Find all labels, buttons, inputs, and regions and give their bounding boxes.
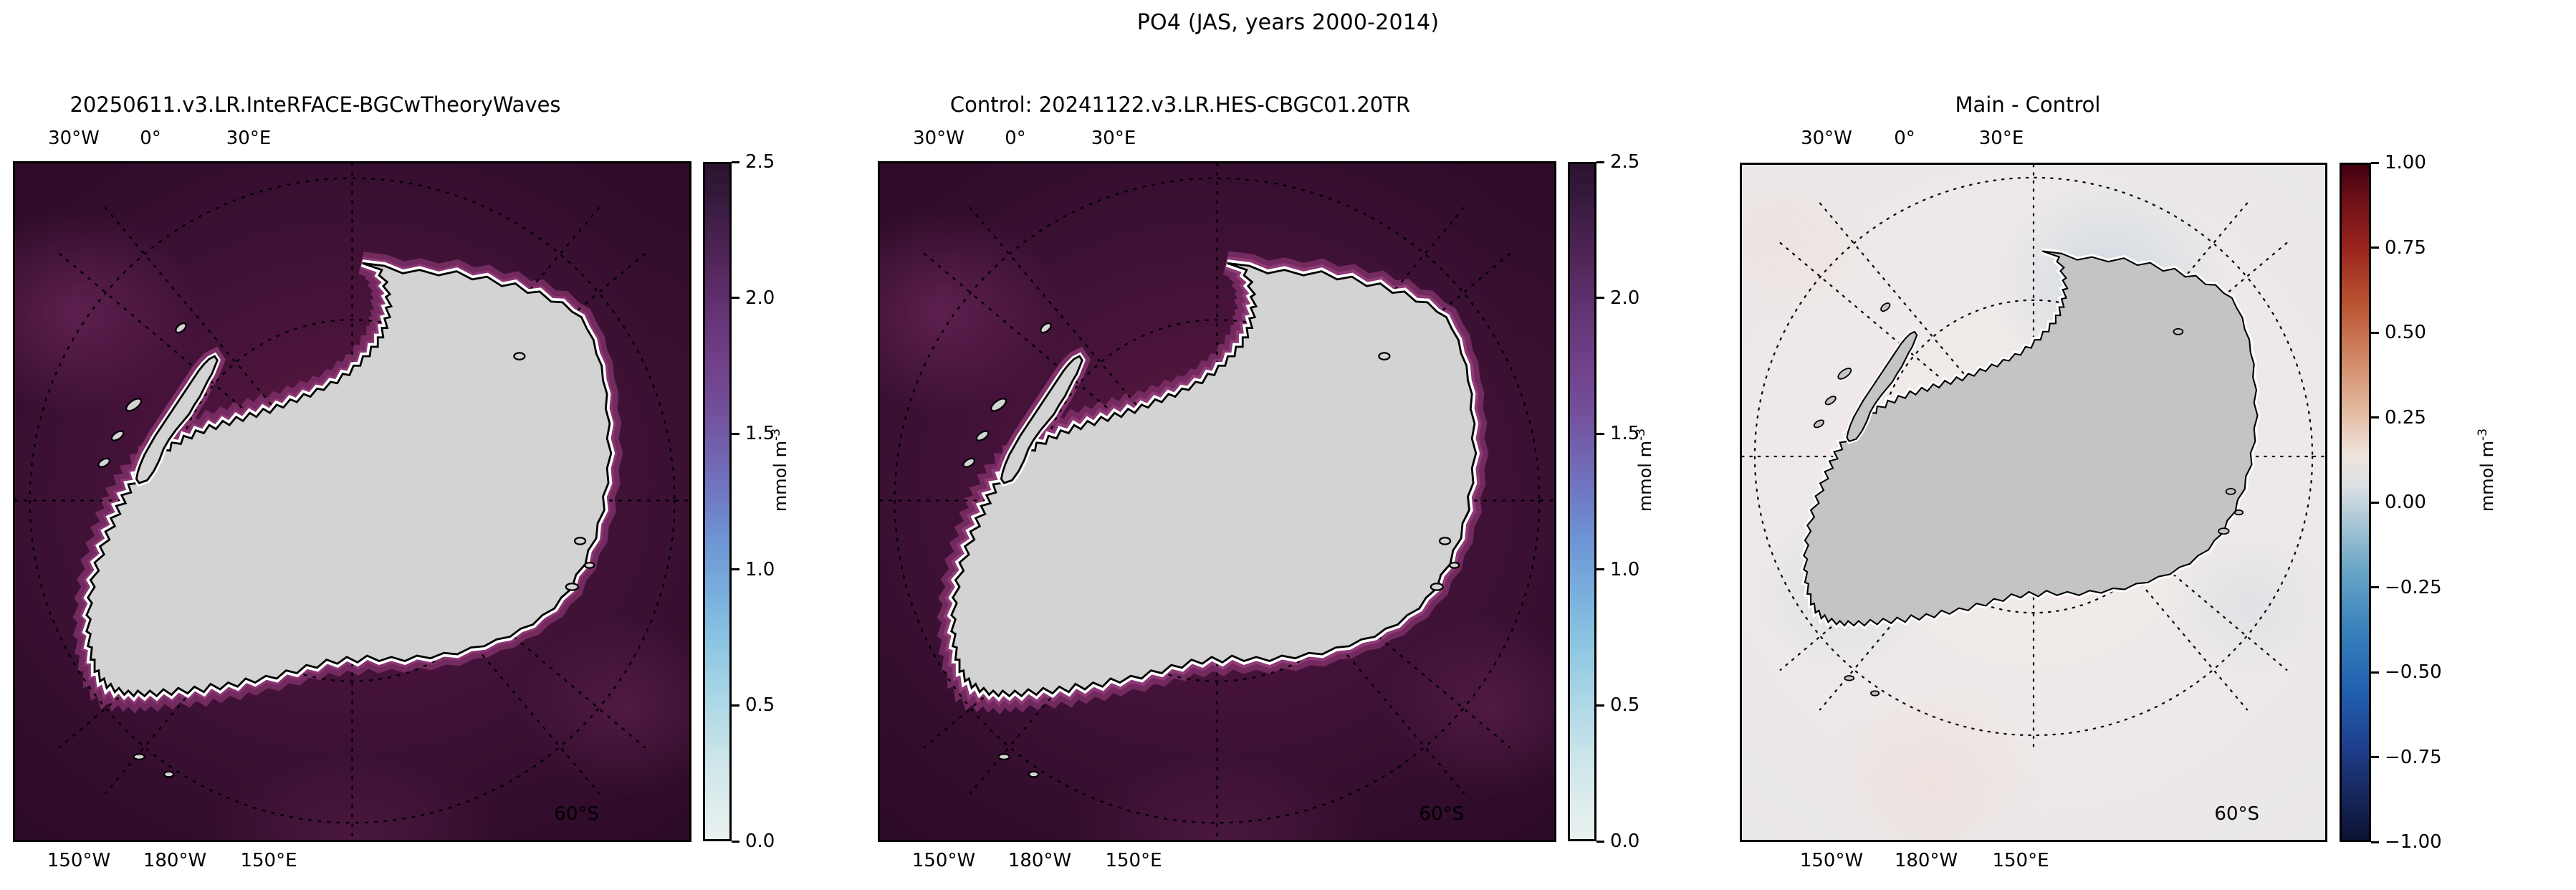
tick-label: 0.5	[745, 696, 775, 714]
ocean-field-main	[15, 163, 689, 840]
tick-mark	[732, 297, 739, 299]
tick-label: 0.0	[745, 832, 775, 851]
tick-label: 0.00	[2385, 493, 2426, 512]
tick-mark	[1596, 297, 1604, 299]
tick-label: 2.5	[1610, 153, 1639, 171]
lon-label-bottom-150w: 150°W	[912, 850, 975, 871]
colorbar-tick: −1.00	[2371, 833, 2442, 851]
colorbar-tick: 2.5	[732, 153, 775, 171]
tick-label: −0.25	[2385, 578, 2442, 597]
lon-label-bottom-150e: 150°E	[240, 850, 297, 871]
panel-difference: Main - Control 30°W 0° 30°E	[1727, 0, 2576, 890]
tick-mark	[2371, 332, 2379, 334]
colorbar-tick: 0.25	[2371, 408, 2426, 427]
colorbar-tick: 0.50	[2371, 323, 2426, 342]
colorbar-tick: 0.0	[732, 832, 775, 851]
tick-label: −0.50	[2385, 663, 2442, 681]
colorbar-tick: 0.5	[1596, 696, 1639, 714]
colorbar-unit-text: mmol m	[2477, 441, 2497, 512]
colorbar-control[interactable]	[1568, 162, 1596, 841]
panel-main-run: 20250611.v3.LR.InteRFACE-BGCwTheoryWaves…	[0, 0, 803, 890]
lat-label-60s-difference: 60°S	[2214, 804, 2259, 824]
panel-control-run: Control: 20241122.v3.LR.HES-CBGC01.20TR …	[865, 0, 1667, 890]
colorbar-axis-label-control: mmol m-3	[1632, 429, 1655, 512]
colorbar-main[interactable]	[703, 162, 732, 841]
difference-field	[1742, 165, 2325, 840]
lon-label-bottom-180w: 180°W	[143, 850, 206, 871]
lon-label-top-30e: 30°E	[1091, 128, 1136, 149]
colorbar-tick: 0.5	[732, 696, 775, 714]
lon-label-bottom-150e: 150°E	[1105, 850, 1162, 871]
lon-label-top-0: 0°	[1894, 128, 1915, 149]
panel-title-difference: Main - Control	[1727, 92, 2329, 118]
tick-label: 1.00	[2385, 153, 2426, 172]
lon-label-top-30e: 30°E	[226, 128, 272, 149]
colorbar-unit-exponent: -3	[1634, 429, 1648, 441]
lon-label-top-30e: 30°E	[1979, 128, 2024, 149]
lat-label-60s-main: 60°S	[554, 804, 599, 824]
tick-mark	[1596, 841, 1604, 843]
tick-mark	[2371, 586, 2379, 588]
tick-label: 2.0	[745, 289, 775, 307]
lat-label-60s-control: 60°S	[1419, 804, 1464, 824]
tick-mark	[2371, 247, 2379, 249]
colorbar-tick: 2.0	[732, 289, 775, 307]
colorbar-axis-label-difference: mmol m-3	[2474, 429, 2496, 512]
colorbar-tick: 0.00	[2371, 493, 2426, 512]
colorbar-tick: 0.0	[1596, 832, 1639, 851]
colorbar-unit-exponent: -3	[2476, 429, 2490, 441]
lon-label-top-0: 0°	[1005, 128, 1026, 149]
panel-title-control: Control: 20241122.v3.LR.HES-CBGC01.20TR	[865, 92, 1495, 118]
colorbar-unit-text: mmol m	[770, 441, 790, 512]
tick-mark	[2371, 671, 2379, 674]
lon-label-top-0: 0°	[140, 128, 161, 149]
tick-mark	[732, 704, 739, 707]
tick-mark	[1596, 161, 1604, 163]
tick-mark	[1596, 433, 1604, 435]
lon-label-bottom-150w: 150°W	[1800, 850, 1863, 871]
lon-label-bottom-150w: 150°W	[47, 850, 110, 871]
map-canvas-main: 60°S	[15, 163, 689, 840]
tick-mark	[2371, 502, 2379, 504]
map-canvas-control: 60°S	[880, 163, 1554, 840]
tick-label: −1.00	[2385, 833, 2442, 851]
colorbar-tick: 1.00	[2371, 153, 2426, 172]
tick-label: 2.5	[745, 153, 775, 171]
tick-label: 0.5	[1610, 696, 1639, 714]
colorbar-unit-exponent: -3	[769, 429, 783, 441]
map-canvas-difference: 60°S	[1742, 165, 2325, 840]
lon-label-top-30w: 30°W	[48, 128, 100, 149]
lon-label-bottom-150e: 150°E	[1992, 850, 2049, 871]
colorbar-tick: −0.25	[2371, 578, 2442, 597]
tick-label: 0.75	[2385, 239, 2426, 257]
colorbar-tick: −0.50	[2371, 663, 2442, 681]
tick-label: 0.50	[2385, 323, 2426, 342]
tick-label: −0.75	[2385, 748, 2442, 767]
colorbar-tick: 2.5	[1596, 153, 1639, 171]
ocean-field-control	[880, 163, 1554, 840]
tick-mark	[732, 433, 739, 435]
tick-mark	[2371, 841, 2379, 843]
tick-mark	[2371, 416, 2379, 418]
colorbar-tick: 1.0	[732, 560, 775, 579]
map-axes-main[interactable]: 60°S	[13, 161, 691, 842]
colorbar-tick: 2.0	[1596, 289, 1639, 307]
tick-mark	[732, 161, 739, 163]
lon-label-top-30w: 30°W	[1801, 128, 1852, 149]
lon-label-top-30w: 30°W	[913, 128, 964, 149]
colorbar-axis-label-main: mmol m-3	[767, 429, 790, 512]
colorbar-tick: 0.75	[2371, 239, 2426, 257]
tick-label: 2.0	[1610, 289, 1639, 307]
tick-mark	[732, 841, 739, 843]
tick-mark	[1596, 704, 1604, 707]
colorbar-difference[interactable]	[2340, 163, 2371, 842]
tick-mark	[2371, 756, 2379, 758]
colorbar-unit-text: mmol m	[1635, 441, 1655, 512]
tick-label: 1.0	[1610, 560, 1639, 579]
tick-mark	[732, 568, 739, 570]
lon-label-bottom-180w: 180°W	[1895, 850, 1958, 871]
tick-mark	[2371, 162, 2379, 164]
colorbar-tick: −0.75	[2371, 748, 2442, 767]
colorbar-tick: 1.0	[1596, 560, 1639, 579]
map-axes-control[interactable]: 60°S	[878, 161, 1556, 842]
tick-label: 0.0	[1610, 832, 1639, 851]
panel-title-main: 20250611.v3.LR.InteRFACE-BGCwTheoryWaves	[0, 92, 631, 118]
map-axes-difference[interactable]: 60°S	[1740, 163, 2327, 842]
tick-label: 1.0	[745, 560, 775, 579]
tick-label: 0.25	[2385, 408, 2426, 427]
tick-mark	[1596, 568, 1604, 570]
lon-label-bottom-180w: 180°W	[1008, 850, 1071, 871]
